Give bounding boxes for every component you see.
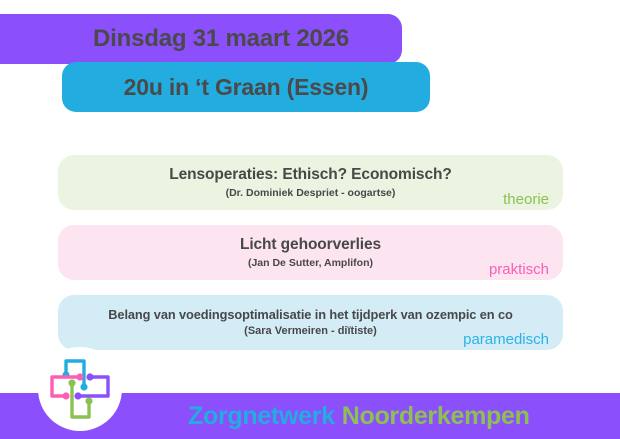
list-item[interactable]: Lensoperaties: Ethisch? Economisch? (Dr.… [58,155,563,210]
session-speaker: (Sara Vermeiren - diïtiste) [244,325,377,337]
footer-brand-part1: Zorgnetwerk [188,402,335,431]
header-banner: Dinsdag 31 maart 2026 20u in ‘t Graan (E… [0,0,620,120]
status-badge: theorie [503,191,549,208]
footer-banner: Zorgnetwerk Noorderkempen [0,393,620,439]
session-list: Lensoperaties: Ethisch? Economisch? (Dr.… [58,155,563,365]
session-title: Licht gehoorverlies [240,236,381,254]
list-item[interactable]: Belang van voedingsoptimalisatie in het … [58,295,563,350]
status-badge: paramedisch [463,331,549,348]
event-time-location-pill: 20u in ‘t Graan (Essen) [62,62,430,112]
status-badge: praktisch [489,261,549,278]
circuit-cross-logo-icon [46,353,114,425]
list-item[interactable]: Licht gehoorverlies (Jan De Sutter, Ampl… [58,225,563,280]
footer-brand: Zorgnetwerk Noorderkempen [188,393,530,439]
session-speaker: (Jan De Sutter, Amplifon) [248,257,373,269]
session-card-content: Licht gehoorverlies (Jan De Sutter, Ampl… [58,225,563,280]
session-title: Belang van voedingsoptimalisatie in het … [108,308,512,323]
event-date-label: Dinsdag 31 maart 2026 [93,25,349,53]
event-time-location-label: 20u in ‘t Graan (Essen) [124,74,369,101]
session-title: Lensoperaties: Ethisch? Economisch? [169,166,451,184]
event-date-pill: Dinsdag 31 maart 2026 [0,14,402,64]
session-card-content: Lensoperaties: Ethisch? Economisch? (Dr.… [58,155,563,210]
footer-brand-part2: Noorderkempen [342,402,530,431]
session-speaker: (Dr. Dominiek Despriet - oogartse) [226,187,396,199]
